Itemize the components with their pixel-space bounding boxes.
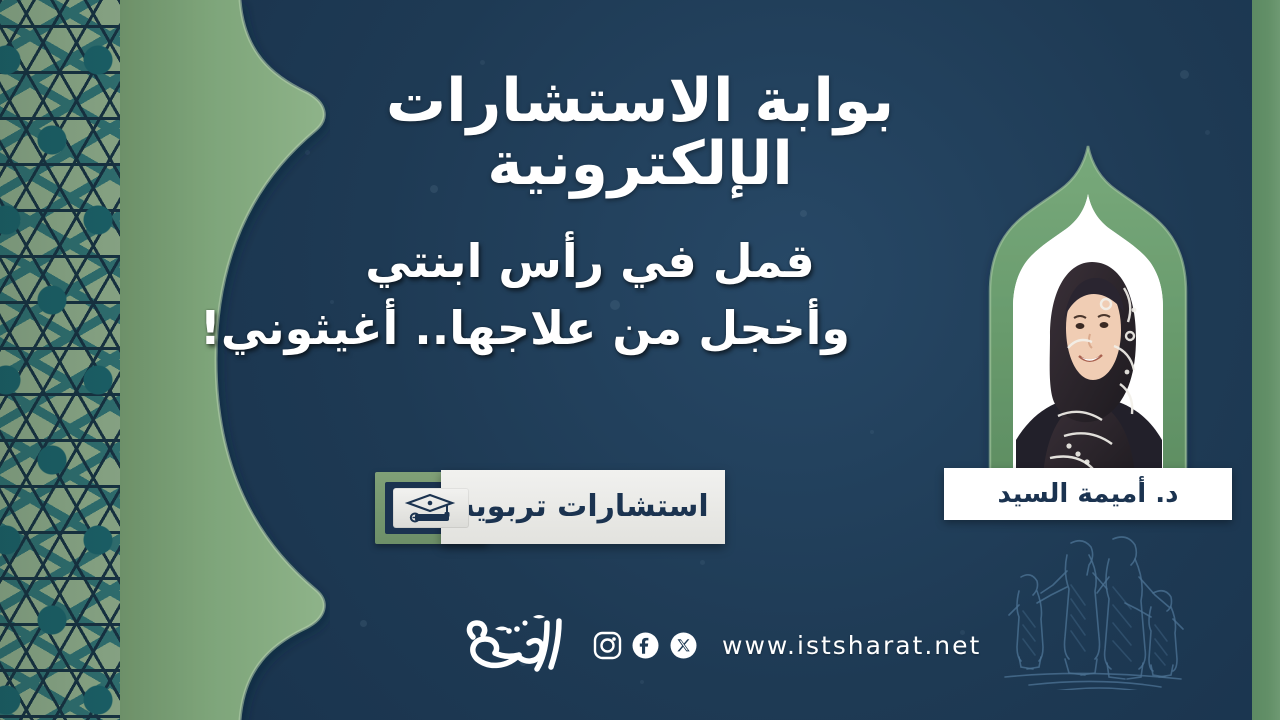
footer: www.istsharat.net xyxy=(455,605,1000,685)
social-links xyxy=(593,631,698,660)
graduation-cap-book-icon xyxy=(393,488,469,528)
badge-label: استشارات تربوية xyxy=(457,489,708,524)
expert-name: د. أميمة السيد xyxy=(998,479,1179,509)
green-edge-strip xyxy=(1252,0,1280,720)
badge-label-panel: استشارات تربوية xyxy=(441,470,725,544)
title-line-1: قمل في رأس ابنتي xyxy=(330,228,850,295)
instagram-icon[interactable] xyxy=(593,631,622,660)
facebook-icon[interactable] xyxy=(631,631,660,660)
al-mujtama-logo[interactable] xyxy=(455,609,575,681)
x-twitter-icon[interactable] xyxy=(669,631,698,660)
expert-nameplate: د. أميمة السيد xyxy=(944,468,1232,520)
family-line-art xyxy=(985,525,1200,690)
website-url[interactable]: www.istsharat.net xyxy=(722,631,981,660)
page-title: قمل في رأس ابنتي وأخجل من علاجها.. أغيثو… xyxy=(330,228,850,361)
title-line-2: وأخجل من علاجها.. أغيثوني! xyxy=(330,295,850,362)
category-badge[interactable]: استشارات تربوية xyxy=(375,470,725,546)
promo-card: بوابة الاستشارات الإلكترونية قمل في رأس … xyxy=(0,0,1280,720)
